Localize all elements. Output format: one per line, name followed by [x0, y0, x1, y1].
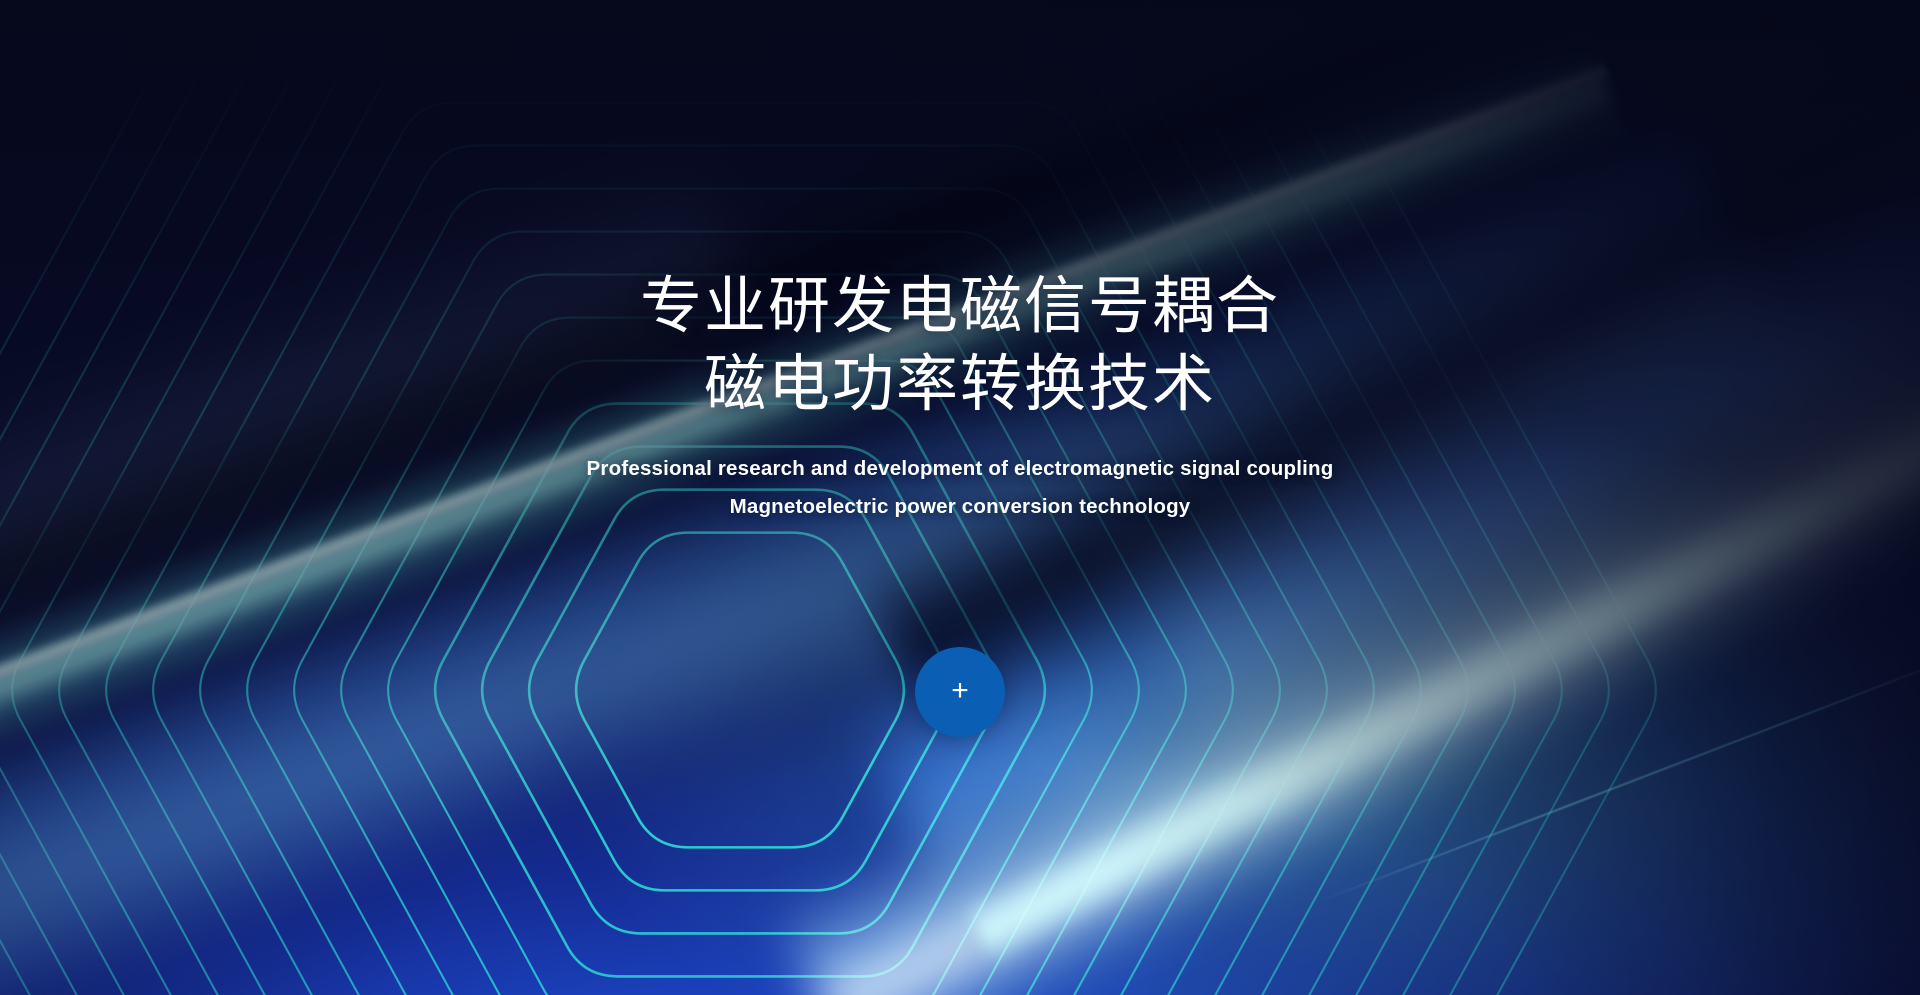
hero-banner: 专业研发电磁信号耦合 磁电功率转换技术 Professional researc…	[0, 0, 1920, 995]
plus-icon: +	[951, 676, 969, 706]
plus-button[interactable]: +	[915, 647, 1005, 737]
subheadline-line-1: Professional research and development of…	[0, 450, 1920, 488]
banner-headline: 专业研发电磁信号耦合 磁电功率转换技术	[0, 268, 1920, 424]
headline-line-1: 专业研发电磁信号耦合	[0, 268, 1920, 346]
banner-text-block: 专业研发电磁信号耦合 磁电功率转换技术 Professional researc…	[0, 268, 1920, 526]
subheadline-line-2: Magnetoelectric power conversion technol…	[0, 488, 1920, 526]
banner-subheadline: Professional research and development of…	[0, 450, 1920, 526]
headline-line-2: 磁电功率转换技术	[0, 346, 1920, 424]
